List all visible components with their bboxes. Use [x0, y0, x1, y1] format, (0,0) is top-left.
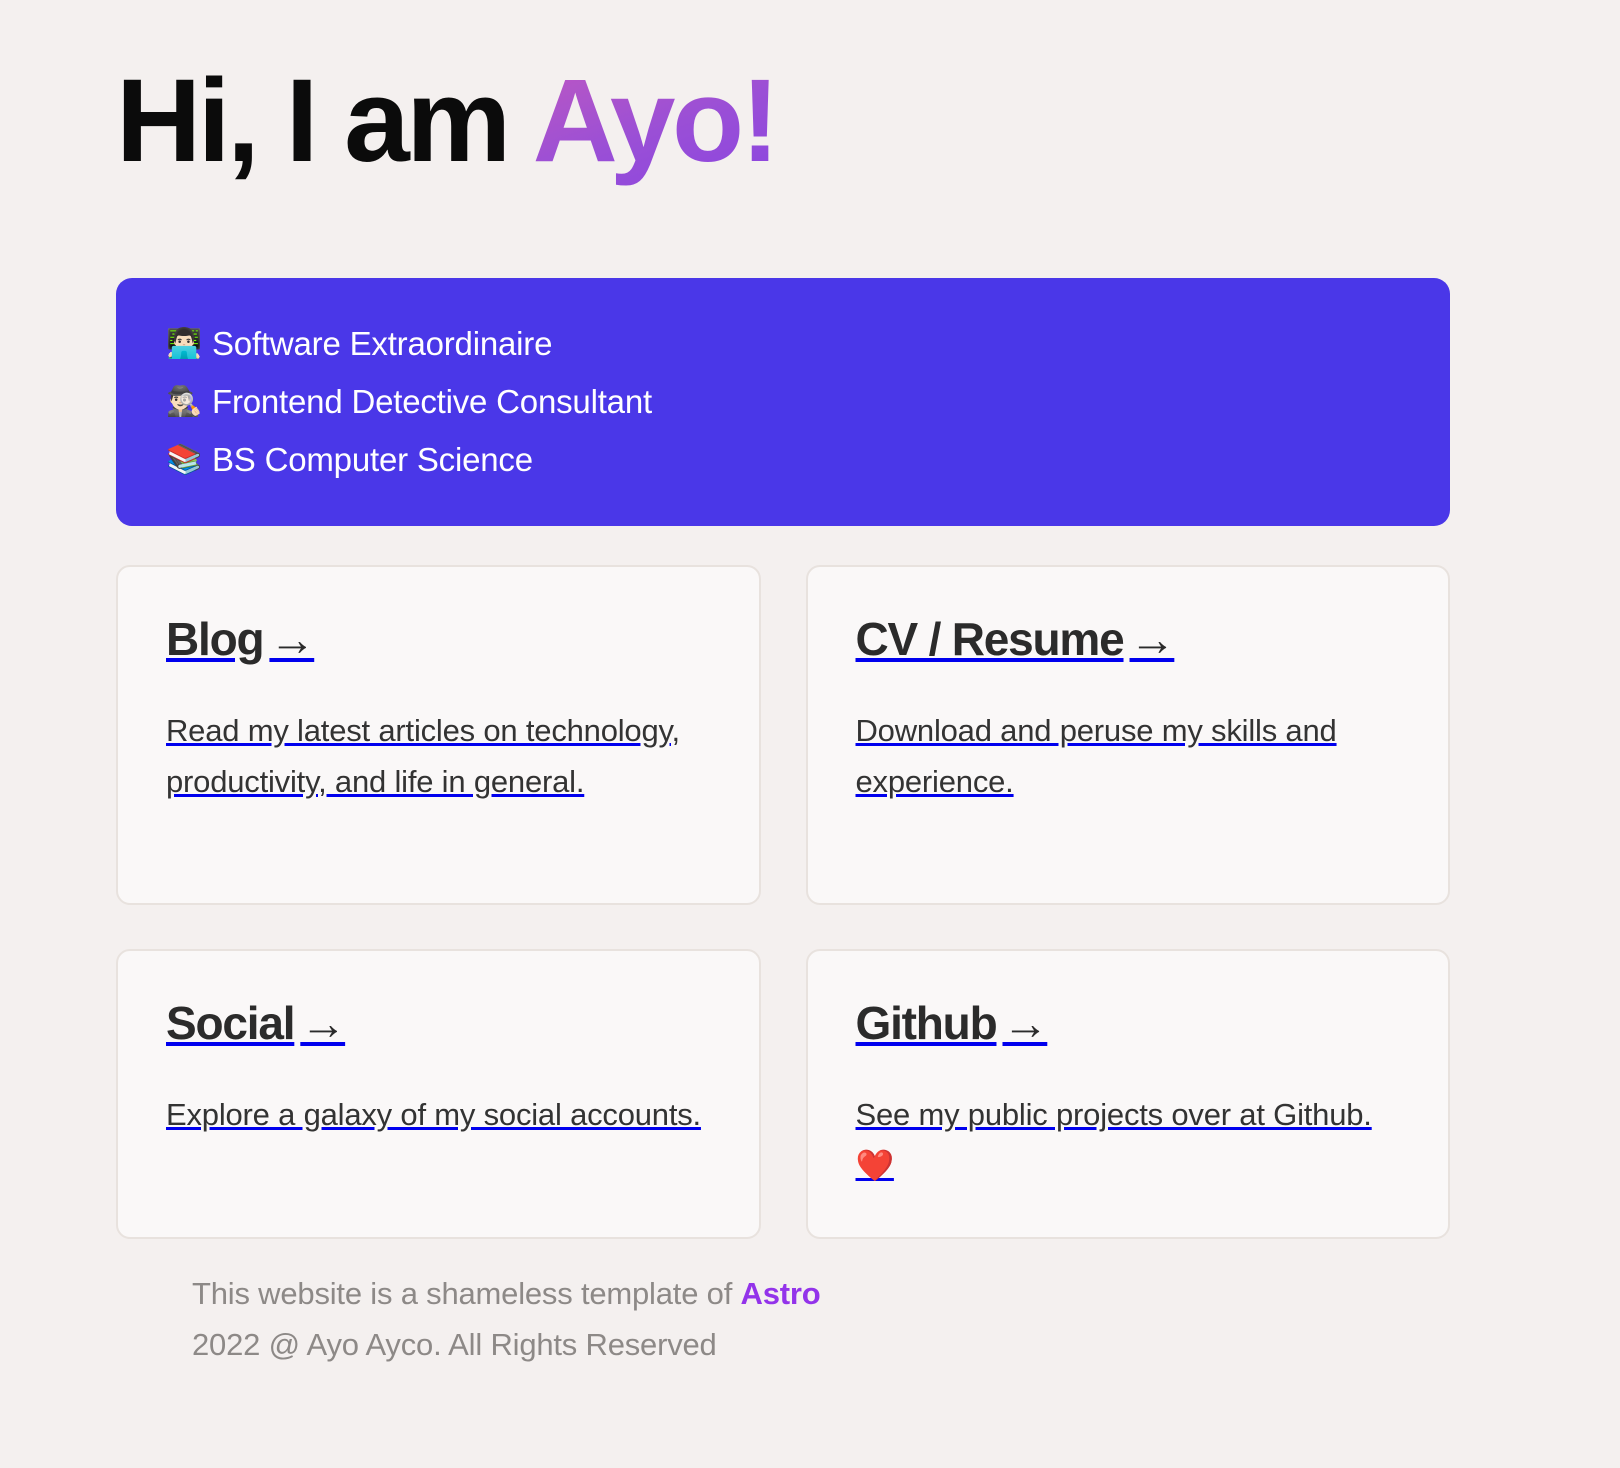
card-blog-description: Read my latest articles on technology, p… — [166, 705, 711, 807]
page-footer: This website is a shameless template of … — [192, 1268, 1442, 1370]
footer-astro-link[interactable]: Astro — [741, 1276, 821, 1311]
footer-credit-line: This website is a shameless template of … — [192, 1268, 1442, 1319]
footer-copyright: 2022 @ Ayo Ayco. All Rights Reserved — [192, 1319, 1442, 1370]
card-github-title: Github→ — [856, 999, 1401, 1047]
navigation-card-grid: Blog→ Read my latest articles on technol… — [116, 565, 1450, 1239]
profile-highlight-row: 👨🏻‍💻 Software Extraordinaire — [166, 315, 1400, 373]
books-emoji: 📚 — [166, 431, 212, 489]
card-blog-title: Blog→ — [166, 615, 711, 663]
hero-name-text: Ayo! — [533, 55, 777, 187]
profile-highlight-label: Software Extraordinaire — [212, 315, 552, 373]
arrow-right-icon: → — [1124, 613, 1175, 665]
hero-section: Hi, I am Ayo! — [116, 52, 1506, 191]
profile-highlight-label: BS Computer Science — [212, 431, 533, 489]
card-blog[interactable]: Blog→ Read my latest articles on technol… — [116, 565, 761, 905]
footer-credit-text: This website is a shameless template of — [192, 1276, 741, 1311]
card-cv-resume-description: Download and peruse my skills and experi… — [856, 705, 1401, 807]
arrow-right-icon: → — [263, 613, 314, 665]
card-github[interactable]: Github→ See my public projects over at G… — [806, 949, 1451, 1239]
card-blog-title-text: Blog — [166, 613, 263, 665]
page-title: Hi, I am Ayo! — [116, 52, 1506, 191]
card-cv-resume[interactable]: CV / Resume→ Download and peruse my skil… — [806, 565, 1451, 905]
profile-highlight-row: 📚 BS Computer Science — [166, 431, 1400, 489]
card-social-description: Explore a galaxy of my social accounts. — [166, 1089, 711, 1140]
arrow-right-icon: → — [294, 997, 345, 1049]
card-cv-resume-title-text: CV / Resume — [856, 613, 1124, 665]
detective-emoji: 🕵🏻‍♂️ — [166, 373, 212, 431]
profile-highlight-label: Frontend Detective Consultant — [212, 373, 652, 431]
card-social-title-text: Social — [166, 997, 294, 1049]
card-social-title: Social→ — [166, 999, 711, 1047]
card-github-description: See my public projects over at Github. ❤… — [856, 1089, 1401, 1191]
profile-highlights-panel: 👨🏻‍💻 Software Extraordinaire 🕵🏻‍♂️ Front… — [116, 278, 1450, 526]
portfolio-landing-page: Hi, I am Ayo! 👨🏻‍💻 Software Extraordinai… — [0, 0, 1620, 1468]
card-cv-resume-title: CV / Resume→ — [856, 615, 1401, 663]
profile-highlight-row: 🕵🏻‍♂️ Frontend Detective Consultant — [166, 373, 1400, 431]
man-technologist-emoji: 👨🏻‍💻 — [166, 315, 212, 373]
card-social[interactable]: Social→ Explore a galaxy of my social ac… — [116, 949, 761, 1239]
hero-greeting-text: Hi, I am — [116, 55, 533, 187]
card-github-title-text: Github — [856, 997, 997, 1049]
arrow-right-icon: → — [996, 997, 1047, 1049]
